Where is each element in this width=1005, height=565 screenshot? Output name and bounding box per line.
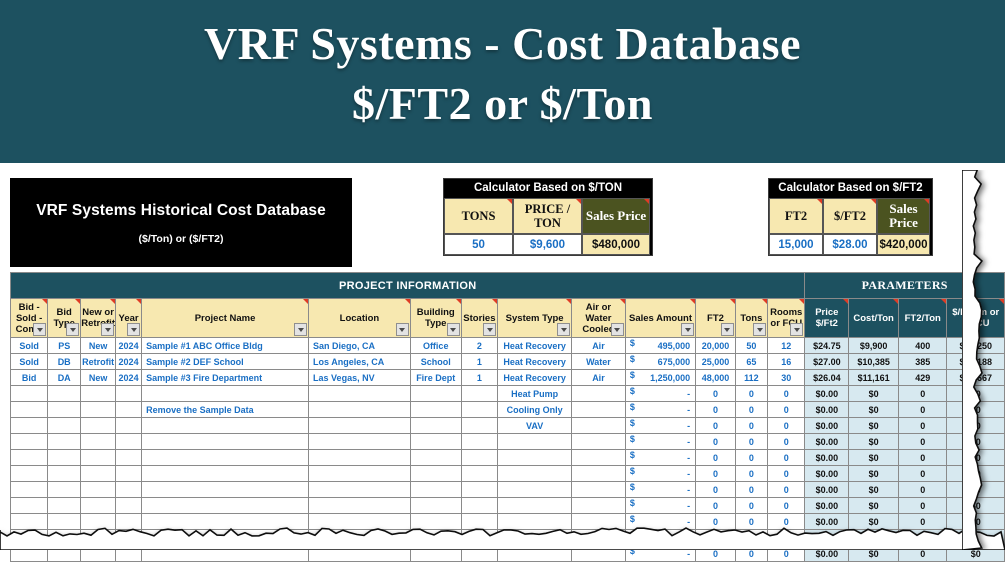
filter-dropdown-icon[interactable] bbox=[721, 323, 734, 336]
column-header-building-type[interactable]: Building Type bbox=[410, 299, 461, 338]
cell-system_type[interactable] bbox=[498, 466, 572, 482]
cell-ft2_ton[interactable]: 0 bbox=[898, 386, 947, 402]
column-header-ft2[interactable]: FT2 bbox=[696, 299, 736, 338]
cell-stories[interactable] bbox=[461, 530, 498, 546]
cell-cost_ton[interactable]: $0 bbox=[849, 434, 899, 450]
cell-bid_type[interactable]: PS bbox=[48, 338, 81, 354]
cell-system_type[interactable]: VAV bbox=[498, 418, 572, 434]
cell-year[interactable] bbox=[116, 482, 142, 498]
cell-rooms_fcu[interactable]: 0 bbox=[768, 402, 805, 418]
cell-stories[interactable] bbox=[461, 498, 498, 514]
cell-location[interactable] bbox=[309, 530, 411, 546]
cell-bid_sold_comp[interactable]: Bid bbox=[11, 370, 48, 386]
cell-location[interactable] bbox=[309, 450, 411, 466]
cell-ft2_ton[interactable]: 0 bbox=[898, 402, 947, 418]
cell-ft2_ton[interactable]: 0 bbox=[898, 546, 947, 562]
cell-ft2_ton[interactable]: 429 bbox=[898, 370, 947, 386]
table-row[interactable]: $-000$0.00$00$0 bbox=[11, 498, 1005, 514]
cell-stories[interactable] bbox=[461, 402, 498, 418]
cell-bid_sold_comp[interactable] bbox=[11, 546, 48, 562]
cell-building_type[interactable] bbox=[410, 450, 461, 466]
cell-year[interactable] bbox=[116, 386, 142, 402]
cell-ft2_ton[interactable]: 0 bbox=[898, 498, 947, 514]
cell-room_fcu_cost[interactable]: $0 bbox=[947, 546, 1005, 562]
cell-stories[interactable] bbox=[461, 434, 498, 450]
cell-tons[interactable]: 0 bbox=[735, 530, 767, 546]
cell-system_type[interactable] bbox=[498, 514, 572, 530]
table-row[interactable]: $-000$0.00$00$0 bbox=[11, 450, 1005, 466]
cell-room_fcu_cost[interactable]: $0 bbox=[947, 434, 1005, 450]
cell-room_fcu_cost[interactable]: $0 bbox=[947, 498, 1005, 514]
cell-sales_amount[interactable]: $495,000 bbox=[625, 338, 695, 354]
cell-bid_type[interactable] bbox=[48, 418, 81, 434]
cell-project_name[interactable] bbox=[142, 546, 309, 562]
cell-stories[interactable] bbox=[461, 546, 498, 562]
filter-dropdown-icon[interactable] bbox=[294, 323, 307, 336]
cell-new_or_retrofit[interactable] bbox=[81, 434, 116, 450]
column-header-air-or-water-cooled[interactable]: Air or Water Cooled bbox=[572, 299, 626, 338]
cell-room_fcu_cost[interactable]: $41,667 bbox=[947, 370, 1005, 386]
cell-ft2[interactable]: 20,000 bbox=[696, 338, 736, 354]
cell-tons[interactable]: 0 bbox=[735, 450, 767, 466]
cell-sales_amount[interactable]: $- bbox=[625, 498, 695, 514]
cell-building_type[interactable] bbox=[410, 546, 461, 562]
cell-price_ft2[interactable]: $0.00 bbox=[805, 418, 849, 434]
cell-price_ft2[interactable]: $0.00 bbox=[805, 514, 849, 530]
cell-tons[interactable]: 0 bbox=[735, 514, 767, 530]
cell-location[interactable] bbox=[309, 482, 411, 498]
cell-rooms_fcu[interactable]: 0 bbox=[768, 498, 805, 514]
cell-ft2_ton[interactable]: 385 bbox=[898, 354, 947, 370]
cell-ft2[interactable]: 0 bbox=[696, 450, 736, 466]
cell-project_name[interactable] bbox=[142, 466, 309, 482]
cell-location[interactable] bbox=[309, 386, 411, 402]
cell-stories[interactable] bbox=[461, 482, 498, 498]
cell-project_name[interactable] bbox=[142, 418, 309, 434]
cell-room_fcu_cost[interactable]: $0 bbox=[947, 450, 1005, 466]
cell-location[interactable]: San Diego, CA bbox=[309, 338, 411, 354]
cell-cost_ton[interactable]: $0 bbox=[849, 530, 899, 546]
cell-sales_amount[interactable]: $- bbox=[625, 450, 695, 466]
cell-year[interactable]: 2024 bbox=[116, 338, 142, 354]
cell-room_fcu_cost[interactable]: $0 bbox=[947, 386, 1005, 402]
cell-price_ft2[interactable]: $24.75 bbox=[805, 338, 849, 354]
column-header-project-name[interactable]: Project Name bbox=[142, 299, 309, 338]
cell-rooms_fcu[interactable]: 0 bbox=[768, 466, 805, 482]
cell-tons[interactable]: 0 bbox=[735, 402, 767, 418]
cell-stories[interactable] bbox=[461, 418, 498, 434]
cell-air_or_water[interactable] bbox=[572, 450, 626, 466]
cell-air_or_water[interactable] bbox=[572, 386, 626, 402]
cell-price_ft2[interactable]: $0.00 bbox=[805, 530, 849, 546]
cell-rooms_fcu[interactable]: 0 bbox=[768, 530, 805, 546]
cell-price_ft2[interactable]: $27.00 bbox=[805, 354, 849, 370]
cell-system_type[interactable] bbox=[498, 498, 572, 514]
column-header-year[interactable]: Year bbox=[116, 299, 142, 338]
cell-tons[interactable]: 50 bbox=[735, 338, 767, 354]
cell-location[interactable] bbox=[309, 402, 411, 418]
cell-bid_sold_comp[interactable] bbox=[11, 386, 48, 402]
cell-project_name[interactable] bbox=[142, 482, 309, 498]
column-header-tons[interactable]: Tons bbox=[735, 299, 767, 338]
cell-project_name[interactable] bbox=[142, 514, 309, 530]
cell-sales_amount[interactable]: $- bbox=[625, 530, 695, 546]
cell-stories[interactable] bbox=[461, 466, 498, 482]
cell-system_type[interactable] bbox=[498, 450, 572, 466]
cell-bid_sold_comp[interactable] bbox=[11, 514, 48, 530]
table-row[interactable]: $-000$0.00$00$0 bbox=[11, 434, 1005, 450]
cell-air_or_water[interactable] bbox=[572, 530, 626, 546]
cell-cost_ton[interactable]: $0 bbox=[849, 386, 899, 402]
cell-price_ft2[interactable]: $26.04 bbox=[805, 370, 849, 386]
cell-year[interactable] bbox=[116, 530, 142, 546]
filter-dropdown-icon[interactable] bbox=[753, 323, 766, 336]
column-header-ft2-ton[interactable]: FT2/Ton bbox=[898, 299, 947, 338]
cell-tons[interactable]: 0 bbox=[735, 498, 767, 514]
cell-price_ft2[interactable]: $0.00 bbox=[805, 450, 849, 466]
cell-tons[interactable]: 0 bbox=[735, 434, 767, 450]
cell-location[interactable] bbox=[309, 498, 411, 514]
cell-ft2_ton[interactable]: 0 bbox=[898, 450, 947, 466]
cell-tons[interactable]: 0 bbox=[735, 466, 767, 482]
cell-bid_sold_comp[interactable] bbox=[11, 482, 48, 498]
cell-rooms_fcu[interactable]: 30 bbox=[768, 370, 805, 386]
cell-year[interactable] bbox=[116, 498, 142, 514]
cell-air_or_water[interactable]: Air bbox=[572, 370, 626, 386]
cell-building_type[interactable] bbox=[410, 466, 461, 482]
cell-rooms_fcu[interactable]: 16 bbox=[768, 354, 805, 370]
cell-year[interactable] bbox=[116, 418, 142, 434]
cell-air_or_water[interactable] bbox=[572, 482, 626, 498]
cell-air_or_water[interactable] bbox=[572, 546, 626, 562]
cell-room_fcu_cost[interactable]: $0 bbox=[947, 530, 1005, 546]
cell-sales_amount[interactable]: $- bbox=[625, 434, 695, 450]
column-header-cost-ton[interactable]: Cost/Ton bbox=[849, 299, 899, 338]
cell-bid_sold_comp[interactable] bbox=[11, 450, 48, 466]
cell-rooms_fcu[interactable]: 0 bbox=[768, 546, 805, 562]
cell-sales_amount[interactable]: $- bbox=[625, 514, 695, 530]
table-row[interactable]: $-000$0.00$00$0 bbox=[11, 514, 1005, 530]
cell-system_type[interactable] bbox=[498, 546, 572, 562]
cell-cost_ton[interactable]: $0 bbox=[849, 498, 899, 514]
cell-bid_sold_comp[interactable]: Sold bbox=[11, 338, 48, 354]
cell-bid_type[interactable] bbox=[48, 402, 81, 418]
tons-input[interactable]: 50 bbox=[444, 234, 513, 255]
cell-year[interactable] bbox=[116, 546, 142, 562]
cell-new_or_retrofit[interactable]: New bbox=[81, 338, 116, 354]
filter-dropdown-icon[interactable] bbox=[483, 323, 496, 336]
cell-bid_type[interactable] bbox=[48, 514, 81, 530]
cell-bid_type[interactable] bbox=[48, 498, 81, 514]
cell-system_type[interactable]: Heat Recovery bbox=[498, 370, 572, 386]
cell-building_type[interactable] bbox=[410, 498, 461, 514]
cell-stories[interactable]: 2 bbox=[461, 338, 498, 354]
cell-sales_amount[interactable]: $- bbox=[625, 386, 695, 402]
table-row[interactable]: SoldPSNew2024Sample #1 ABC Office BldgSa… bbox=[11, 338, 1005, 354]
cell-year[interactable] bbox=[116, 514, 142, 530]
cell-air_or_water[interactable] bbox=[572, 498, 626, 514]
cell-air_or_water[interactable]: Water bbox=[572, 354, 626, 370]
cell-new_or_retrofit[interactable]: New bbox=[81, 370, 116, 386]
column-header-room-or-fcu[interactable]: $/Room or $/FCU bbox=[947, 299, 1005, 338]
cell-rooms_fcu[interactable]: 0 bbox=[768, 450, 805, 466]
cell-rooms_fcu[interactable]: 0 bbox=[768, 418, 805, 434]
table-row[interactable]: Heat Pump$-000$0.00$00$0 bbox=[11, 386, 1005, 402]
cell-cost_ton[interactable]: $0 bbox=[849, 418, 899, 434]
cell-project_name[interactable]: Remove the Sample Data bbox=[142, 402, 309, 418]
cell-cost_ton[interactable]: $0 bbox=[849, 450, 899, 466]
cell-bid_sold_comp[interactable] bbox=[11, 498, 48, 514]
cell-year[interactable] bbox=[116, 466, 142, 482]
cell-bid_type[interactable] bbox=[48, 482, 81, 498]
table-row[interactable]: $-000$0.00$00$0 bbox=[11, 482, 1005, 498]
cell-air_or_water[interactable] bbox=[572, 466, 626, 482]
cell-sales_amount[interactable]: $- bbox=[625, 482, 695, 498]
filter-dropdown-icon[interactable] bbox=[557, 323, 570, 336]
cell-bid_type[interactable] bbox=[48, 450, 81, 466]
cell-project_name[interactable] bbox=[142, 450, 309, 466]
column-header-location[interactable]: Location bbox=[309, 299, 411, 338]
cell-air_or_water[interactable] bbox=[572, 514, 626, 530]
cell-room_fcu_cost[interactable]: $0 bbox=[947, 402, 1005, 418]
cell-rooms_fcu[interactable]: 0 bbox=[768, 434, 805, 450]
price-per-ft2-input[interactable]: $28.00 bbox=[823, 234, 877, 255]
cell-bid_type[interactable] bbox=[48, 546, 81, 562]
cell-ft2[interactable]: 0 bbox=[696, 482, 736, 498]
cell-ft2[interactable]: 0 bbox=[696, 418, 736, 434]
cell-ft2[interactable]: 0 bbox=[696, 386, 736, 402]
cell-ft2[interactable]: 48,000 bbox=[696, 370, 736, 386]
cell-location[interactable] bbox=[309, 434, 411, 450]
column-header-system-type[interactable]: System Type bbox=[498, 299, 572, 338]
cell-project_name[interactable] bbox=[142, 498, 309, 514]
table-row[interactable]: $-000$0.00$00$0 bbox=[11, 530, 1005, 546]
cell-ft2[interactable]: 0 bbox=[696, 514, 736, 530]
cell-bid_type[interactable] bbox=[48, 466, 81, 482]
column-header-rooms-or-fcu[interactable]: Rooms or FCU bbox=[768, 299, 805, 338]
cell-tons[interactable]: 0 bbox=[735, 482, 767, 498]
table-row[interactable]: SoldDBRetrofit2024Sample #2 DEF SchoolLo… bbox=[11, 354, 1005, 370]
cell-bid_type[interactable] bbox=[48, 386, 81, 402]
cell-price_ft2[interactable]: $0.00 bbox=[805, 498, 849, 514]
table-row[interactable]: VAV$-000$0.00$00$0 bbox=[11, 418, 1005, 434]
cell-rooms_fcu[interactable]: 12 bbox=[768, 338, 805, 354]
cell-price_ft2[interactable]: $0.00 bbox=[805, 434, 849, 450]
cell-year[interactable]: 2024 bbox=[116, 354, 142, 370]
cell-ft2_ton[interactable]: 0 bbox=[898, 418, 947, 434]
cell-ft2_ton[interactable]: 0 bbox=[898, 514, 947, 530]
cell-project_name[interactable] bbox=[142, 530, 309, 546]
cell-building_type[interactable]: Office bbox=[410, 338, 461, 354]
column-header-bid-sold-comp[interactable]: Bid - Sold - Comp bbox=[11, 299, 48, 338]
cell-sales_amount[interactable]: $- bbox=[625, 466, 695, 482]
cell-year[interactable] bbox=[116, 450, 142, 466]
cell-year[interactable]: 2024 bbox=[116, 370, 142, 386]
cell-ft2_ton[interactable]: 0 bbox=[898, 434, 947, 450]
cell-system_type[interactable]: Heat Recovery bbox=[498, 338, 572, 354]
cell-cost_ton[interactable]: $0 bbox=[849, 402, 899, 418]
cell-bid_sold_comp[interactable] bbox=[11, 418, 48, 434]
cell-sales_amount[interactable]: $- bbox=[625, 402, 695, 418]
cell-new_or_retrofit[interactable] bbox=[81, 530, 116, 546]
cell-air_or_water[interactable] bbox=[572, 418, 626, 434]
cell-room_fcu_cost[interactable]: $42,188 bbox=[947, 354, 1005, 370]
table-row[interactable]: BidDANew2024Sample #3 Fire DepartmentLas… bbox=[11, 370, 1005, 386]
filter-dropdown-icon[interactable] bbox=[66, 323, 79, 336]
cell-bid_type[interactable] bbox=[48, 434, 81, 450]
table-row[interactable]: Remove the Sample DataCooling Only$-000$… bbox=[11, 402, 1005, 418]
cell-project_name[interactable]: Sample #1 ABC Office Bldg bbox=[142, 338, 309, 354]
cell-sales_amount[interactable]: $- bbox=[625, 418, 695, 434]
cell-price_ft2[interactable]: $0.00 bbox=[805, 402, 849, 418]
cell-year[interactable] bbox=[116, 402, 142, 418]
cell-building_type[interactable]: Fire Dept bbox=[410, 370, 461, 386]
filter-dropdown-icon[interactable] bbox=[681, 323, 694, 336]
cell-system_type[interactable] bbox=[498, 530, 572, 546]
cell-bid_sold_comp[interactable] bbox=[11, 434, 48, 450]
cell-ft2[interactable]: 0 bbox=[696, 546, 736, 562]
cell-air_or_water[interactable]: Air bbox=[572, 338, 626, 354]
cell-cost_ton[interactable]: $10,385 bbox=[849, 354, 899, 370]
filter-dropdown-icon[interactable] bbox=[33, 323, 46, 336]
cell-building_type[interactable] bbox=[410, 418, 461, 434]
cell-bid_type[interactable]: DA bbox=[48, 370, 81, 386]
filter-dropdown-icon[interactable] bbox=[127, 323, 140, 336]
cell-room_fcu_cost[interactable]: $41,250 bbox=[947, 338, 1005, 354]
table-row[interactable]: $-000$0.00$00$0 bbox=[11, 546, 1005, 562]
cell-stories[interactable] bbox=[461, 386, 498, 402]
cell-ft2[interactable]: 0 bbox=[696, 466, 736, 482]
cell-ft2[interactable]: 0 bbox=[696, 530, 736, 546]
cell-bid_sold_comp[interactable] bbox=[11, 530, 48, 546]
cell-room_fcu_cost[interactable]: $0 bbox=[947, 418, 1005, 434]
cell-bid_sold_comp[interactable]: Sold bbox=[11, 354, 48, 370]
cell-new_or_retrofit[interactable]: Retrofit bbox=[81, 354, 116, 370]
filter-dropdown-icon[interactable] bbox=[611, 323, 624, 336]
column-header-bid-type[interactable]: Bid Type bbox=[48, 299, 81, 338]
cell-price_ft2[interactable]: $0.00 bbox=[805, 482, 849, 498]
cell-project_name[interactable]: Sample #2 DEF School bbox=[142, 354, 309, 370]
cell-new_or_retrofit[interactable] bbox=[81, 418, 116, 434]
cell-room_fcu_cost[interactable]: $0 bbox=[947, 514, 1005, 530]
cell-room_fcu_cost[interactable]: $0 bbox=[947, 482, 1005, 498]
cell-ft2_ton[interactable]: 0 bbox=[898, 482, 947, 498]
cell-system_type[interactable] bbox=[498, 482, 572, 498]
cell-ft2_ton[interactable]: 0 bbox=[898, 530, 947, 546]
cell-air_or_water[interactable] bbox=[572, 402, 626, 418]
cell-rooms_fcu[interactable]: 0 bbox=[768, 514, 805, 530]
ft2-input[interactable]: 15,000 bbox=[769, 234, 823, 255]
cell-location[interactable]: Las Vegas, NV bbox=[309, 370, 411, 386]
cell-building_type[interactable] bbox=[410, 434, 461, 450]
cell-tons[interactable]: 0 bbox=[735, 418, 767, 434]
cell-bid_type[interactable] bbox=[48, 530, 81, 546]
cell-ft2[interactable]: 0 bbox=[696, 434, 736, 450]
cell-new_or_retrofit[interactable] bbox=[81, 514, 116, 530]
cell-building_type[interactable] bbox=[410, 530, 461, 546]
cell-building_type[interactable]: School bbox=[410, 354, 461, 370]
cell-ft2[interactable]: 0 bbox=[696, 498, 736, 514]
cell-cost_ton[interactable]: $0 bbox=[849, 514, 899, 530]
cell-new_or_retrofit[interactable] bbox=[81, 450, 116, 466]
filter-dropdown-icon[interactable] bbox=[447, 323, 460, 336]
cell-project_name[interactable]: Sample #3 Fire Department bbox=[142, 370, 309, 386]
cell-bid_sold_comp[interactable] bbox=[11, 402, 48, 418]
cell-new_or_retrofit[interactable] bbox=[81, 482, 116, 498]
cell-rooms_fcu[interactable]: 0 bbox=[768, 482, 805, 498]
cell-tons[interactable]: 112 bbox=[735, 370, 767, 386]
filter-dropdown-icon[interactable] bbox=[101, 323, 114, 336]
column-header-price-ft2[interactable]: Price $/Ft2 bbox=[805, 299, 849, 338]
column-header-new-or-retrofit[interactable]: New or Retrofit bbox=[81, 299, 116, 338]
cell-building_type[interactable] bbox=[410, 402, 461, 418]
cell-stories[interactable] bbox=[461, 450, 498, 466]
cell-sales_amount[interactable]: $- bbox=[625, 546, 695, 562]
cell-new_or_retrofit[interactable] bbox=[81, 546, 116, 562]
cell-stories[interactable] bbox=[461, 514, 498, 530]
cell-location[interactable] bbox=[309, 546, 411, 562]
cell-cost_ton[interactable]: $0 bbox=[849, 546, 899, 562]
cell-location[interactable]: Los Angeles, CA bbox=[309, 354, 411, 370]
cell-sales_amount[interactable]: $1,250,000 bbox=[625, 370, 695, 386]
cell-rooms_fcu[interactable]: 0 bbox=[768, 386, 805, 402]
cell-ft2[interactable]: 25,000 bbox=[696, 354, 736, 370]
cell-cost_ton[interactable]: $0 bbox=[849, 482, 899, 498]
price-per-ton-input[interactable]: $9,600 bbox=[513, 234, 582, 255]
cell-building_type[interactable] bbox=[410, 386, 461, 402]
cell-project_name[interactable] bbox=[142, 386, 309, 402]
cell-building_type[interactable] bbox=[410, 482, 461, 498]
cell-system_type[interactable]: Heat Recovery bbox=[498, 354, 572, 370]
cell-bid_sold_comp[interactable] bbox=[11, 466, 48, 482]
cell-new_or_retrofit[interactable] bbox=[81, 498, 116, 514]
cell-stories[interactable]: 1 bbox=[461, 370, 498, 386]
table-row[interactable]: $-000$0.00$00$0 bbox=[11, 466, 1005, 482]
cell-system_type[interactable]: Heat Pump bbox=[498, 386, 572, 402]
cell-building_type[interactable] bbox=[410, 514, 461, 530]
cell-system_type[interactable] bbox=[498, 434, 572, 450]
cell-new_or_retrofit[interactable] bbox=[81, 466, 116, 482]
cell-cost_ton[interactable]: $0 bbox=[849, 466, 899, 482]
cell-sales_amount[interactable]: $675,000 bbox=[625, 354, 695, 370]
cell-project_name[interactable] bbox=[142, 434, 309, 450]
cell-location[interactable] bbox=[309, 514, 411, 530]
cell-bid_type[interactable]: DB bbox=[48, 354, 81, 370]
cell-tons[interactable]: 0 bbox=[735, 386, 767, 402]
cell-cost_ton[interactable]: $9,900 bbox=[849, 338, 899, 354]
cell-ft2[interactable]: 0 bbox=[696, 402, 736, 418]
cell-ft2_ton[interactable]: 400 bbox=[898, 338, 947, 354]
cell-price_ft2[interactable]: $0.00 bbox=[805, 546, 849, 562]
cell-year[interactable] bbox=[116, 434, 142, 450]
cell-location[interactable] bbox=[309, 418, 411, 434]
column-header-stories[interactable]: Stories bbox=[461, 299, 498, 338]
cell-stories[interactable]: 1 bbox=[461, 354, 498, 370]
cell-air_or_water[interactable] bbox=[572, 434, 626, 450]
cell-cost_ton[interactable]: $11,161 bbox=[849, 370, 899, 386]
cell-price_ft2[interactable]: $0.00 bbox=[805, 386, 849, 402]
cell-new_or_retrofit[interactable] bbox=[81, 402, 116, 418]
filter-dropdown-icon[interactable] bbox=[790, 323, 803, 336]
cell-tons[interactable]: 65 bbox=[735, 354, 767, 370]
cell-price_ft2[interactable]: $0.00 bbox=[805, 466, 849, 482]
cell-location[interactable] bbox=[309, 466, 411, 482]
column-header-sales-amount[interactable]: Sales Amount bbox=[625, 299, 695, 338]
cell-system_type[interactable]: Cooling Only bbox=[498, 402, 572, 418]
cell-tons[interactable]: 0 bbox=[735, 546, 767, 562]
cell-new_or_retrofit[interactable] bbox=[81, 386, 116, 402]
filter-dropdown-icon[interactable] bbox=[396, 323, 409, 336]
